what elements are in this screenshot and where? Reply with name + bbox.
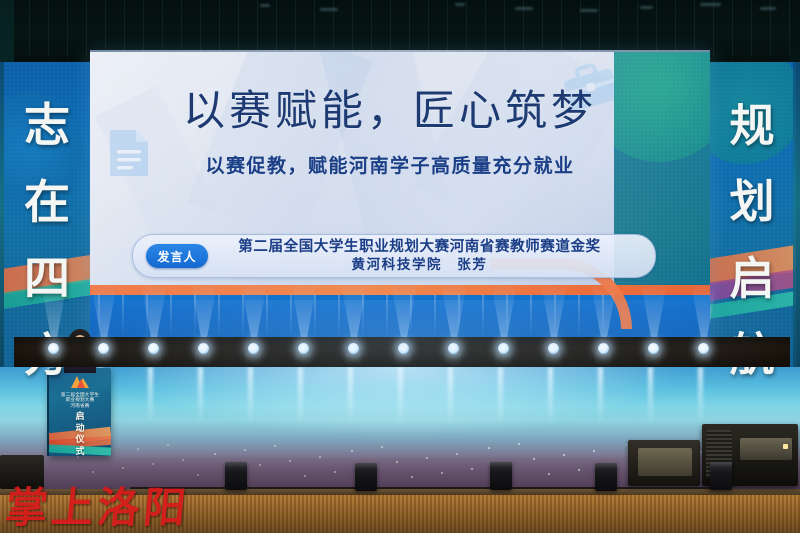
stage-cable	[615, 487, 712, 489]
stage-monitor-top	[490, 462, 512, 467]
floor-sparkle	[456, 453, 458, 455]
floor-sparkle	[244, 449, 246, 451]
speaker-name-line: 黄河科技学院 张芳	[208, 256, 631, 274]
podium-big-char-2: 动	[49, 424, 111, 436]
ceiling-glint	[455, 3, 465, 6]
floor-sparkle	[182, 459, 184, 461]
floor-sparkle	[548, 473, 550, 475]
floor-light-reflection	[498, 367, 503, 425]
stage-light	[48, 343, 59, 354]
headline-block: 以赛赋能，匠心筑梦 以赛促教，赋能河南学子高质量充分就业	[140, 90, 640, 178]
stage-monitor	[225, 462, 247, 490]
floor-sparkle	[259, 464, 261, 466]
stage-light	[648, 343, 659, 354]
floor-sparkle	[351, 450, 353, 452]
floor-sparkle	[396, 461, 398, 463]
stage-light	[348, 343, 359, 354]
floor-light-reflection	[298, 367, 303, 425]
floor-sparkle	[411, 476, 413, 478]
truss-bar	[713, 0, 714, 62]
truss-bar	[732, 0, 733, 62]
floor-light-reflection	[198, 367, 203, 425]
stage-light-fixture	[395, 353, 411, 365]
pa-speaker-led	[783, 444, 788, 449]
truss-bar	[67, 0, 68, 62]
stage-wedge-monitor	[628, 440, 700, 486]
floor-light-reflection	[598, 367, 603, 425]
ceiling-glint	[515, 7, 533, 10]
watermark: 掌上洛阳	[3, 474, 193, 533]
stage-cable	[510, 487, 597, 489]
screen-light-ray	[290, 295, 292, 337]
stage-light	[398, 343, 409, 354]
floor-sparkle	[274, 445, 276, 447]
stage-cable	[375, 487, 492, 489]
stage-light-fixture	[495, 353, 511, 365]
stage-light	[698, 343, 709, 354]
ceiling-glint	[580, 9, 598, 12]
floor-light-reflection	[698, 367, 703, 425]
stage-monitor	[355, 463, 377, 491]
stage-light	[548, 343, 559, 354]
screen-light-ray	[170, 295, 172, 337]
floor-sparkle	[625, 444, 627, 446]
floor-sparkle	[578, 469, 580, 471]
screen-light-ray	[314, 295, 316, 337]
floor-sparkle	[334, 471, 336, 473]
floor-sparkle	[518, 443, 520, 445]
floor-sparkle	[381, 446, 383, 448]
ceiling-glint	[640, 6, 653, 9]
floor-sparkle	[167, 444, 169, 446]
stage-cable	[245, 487, 357, 489]
floor-sparkle	[77, 456, 79, 458]
stage-monitor-top	[710, 462, 732, 467]
ceiling-glint	[700, 3, 721, 6]
stage-monitor-top	[225, 462, 247, 467]
floor-sparkle	[471, 468, 473, 470]
podium-big-char-1: 启	[49, 412, 111, 424]
pa-speaker-panel	[740, 438, 792, 460]
stage-light-fixture	[195, 353, 211, 365]
screen-light-ray	[482, 295, 484, 337]
podium-big-char-3: 仪	[49, 435, 111, 447]
floor-sparkle	[563, 454, 565, 456]
stage-light-fixture	[545, 353, 561, 365]
stage-light-fixture	[345, 353, 361, 365]
stage-light	[98, 343, 109, 354]
floor-sparkle	[593, 450, 595, 452]
floor-light-reflection	[448, 367, 453, 425]
truss-bar	[86, 0, 87, 62]
speaker-info-text: 第二届全国大学生职业规划大赛河南省赛教师赛道金奖 黄河科技学院 张芳	[208, 238, 655, 274]
floor-sparkle	[122, 467, 124, 469]
stage-light-fixture	[695, 353, 711, 365]
stage-lights-row	[14, 337, 790, 367]
speaker-info-bar: 发言人 第二届全国大学生职业规划大赛河南省赛教师赛道金奖 黄河科技学院 张芳	[132, 234, 656, 278]
floor-light-reflection	[548, 367, 553, 425]
stage-light	[148, 343, 159, 354]
stage-light	[448, 343, 459, 354]
stage-light-fixture	[245, 353, 261, 365]
wedge-monitor-face	[638, 448, 692, 476]
truss-bar	[29, 0, 30, 62]
floor-light-reflection	[148, 367, 153, 425]
floor-sparkle	[214, 453, 216, 455]
stage-monitor	[595, 463, 617, 491]
floor-sparkle	[441, 472, 443, 474]
status-badge: 发言人	[146, 244, 208, 268]
stage-light	[298, 343, 309, 354]
screen-light-ray	[434, 295, 436, 337]
truss-bar	[751, 0, 752, 62]
floor-sparkle	[152, 463, 154, 465]
floor-sparkle	[426, 457, 428, 459]
stage-photo-scene: 志 在 四 方 规 划 启 航	[0, 0, 800, 533]
floor-sparkle	[533, 458, 535, 460]
banner-left-char-2: 在	[24, 179, 70, 225]
ceiling-glint	[320, 8, 338, 11]
screen-light-ray	[242, 295, 244, 337]
screen-light-ray	[122, 295, 124, 337]
page-subtitle: 以赛促教，赋能河南学子高质量充分就业	[140, 151, 640, 178]
floor-sparkle	[92, 471, 94, 473]
ceiling-glint	[760, 7, 776, 10]
floor-light-reflection	[248, 367, 253, 425]
stage-monitor-top	[595, 463, 617, 468]
floor-sparkle	[319, 456, 321, 458]
floor-light-reflection	[648, 367, 653, 425]
truss-bar	[48, 0, 49, 62]
floor-sparkle	[304, 475, 306, 477]
banner-right-char-3: 启	[729, 256, 774, 301]
screen-light-ray	[266, 295, 268, 337]
screen-light-ray	[218, 295, 220, 337]
stage-monitor	[710, 462, 732, 490]
podium-big-char-4: 式	[49, 447, 111, 456]
ceiling-glint	[260, 4, 270, 7]
floor-sparkle	[488, 447, 490, 449]
floor-light-reflection	[348, 367, 353, 425]
stage-light-fixture	[295, 353, 311, 365]
speaker-award-line: 第二届全国大学生职业规划大赛河南省赛教师赛道金奖	[208, 238, 631, 256]
banner-right-char-2: 划	[729, 179, 774, 224]
stage-light-fixture	[445, 353, 461, 365]
stage-light	[198, 343, 209, 354]
page-title: 以赛赋能，匠心筑梦	[140, 90, 640, 133]
stage-light	[248, 343, 259, 354]
stage-light-fixture	[45, 353, 61, 365]
banner-left-char-1: 志	[24, 102, 70, 148]
stage-monitor	[490, 462, 512, 490]
floor-sparkle	[289, 460, 291, 462]
stage-light-fixture	[145, 353, 161, 365]
stage-light-fixture	[645, 353, 661, 365]
stage-light-fixture	[595, 353, 611, 365]
banner-right-char-1: 规	[729, 103, 774, 148]
floor-sparkle	[137, 448, 139, 450]
stage-light	[498, 343, 509, 354]
stage-light	[598, 343, 609, 354]
screen-light-ray	[386, 295, 388, 337]
floor-light-reflection	[398, 367, 403, 425]
floor-sparkle	[197, 474, 199, 476]
stage-light-fixture	[95, 353, 111, 365]
stage-monitor-top	[355, 463, 377, 468]
podium-main-text: 启 动 仪 式	[49, 412, 111, 456]
screen-light-ray	[338, 295, 340, 337]
